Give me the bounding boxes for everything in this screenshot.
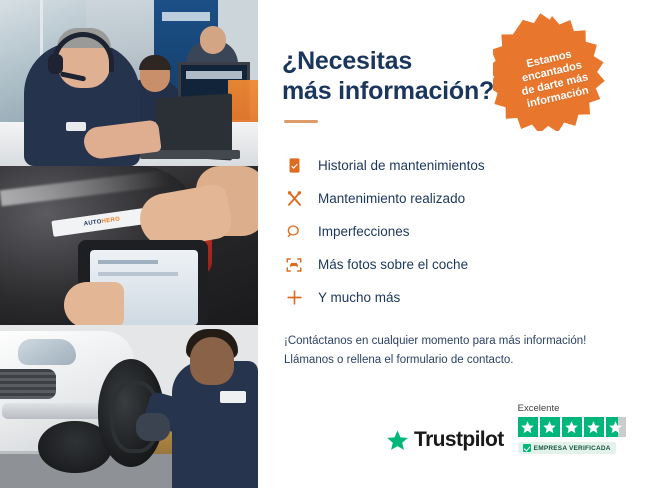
list-item: Mantenimiento realizado xyxy=(284,182,650,215)
check-icon xyxy=(523,444,531,452)
feature-label: Imperfecciones xyxy=(318,224,410,239)
contact-line-1: ¡Contáctanos en cualquier momento para m… xyxy=(284,332,650,351)
tools-cross-icon xyxy=(284,189,304,209)
trustpilot-star-icon xyxy=(386,429,409,452)
list-item: Más fotos sobre el coche xyxy=(284,248,650,281)
call-center-agents-photo xyxy=(0,0,258,166)
status-badge: Estamos encantados de darte más informac… xyxy=(493,13,611,131)
star-filled xyxy=(540,417,560,437)
clipboard-check-icon xyxy=(284,156,304,176)
star-filled xyxy=(562,417,582,437)
verified-badge: EMPRESA VERIFICADA xyxy=(518,442,616,454)
list-item: Imperfecciones xyxy=(284,215,650,248)
star-filled xyxy=(584,417,604,437)
technician-wheel-inspection-photo xyxy=(0,325,258,488)
star-rating xyxy=(518,417,626,437)
rating-label: Excelente xyxy=(518,403,560,414)
feature-label: Mantenimiento realizado xyxy=(318,191,465,206)
vehicle-inspection-ruler-photo: AUTOHERO xyxy=(0,166,258,325)
magnifier-icon xyxy=(284,222,304,242)
contact-line-2: Llámanos o rellena el formulario de cont… xyxy=(284,351,650,370)
feature-label: Y mucho más xyxy=(318,290,400,305)
verified-label: EMPRESA VERIFICADA xyxy=(534,445,611,452)
car-scan-icon xyxy=(284,255,304,275)
star-filled xyxy=(518,417,538,437)
plus-icon xyxy=(284,288,304,308)
headline-line-1: ¿Necesitas xyxy=(282,47,412,75)
badge-text: Estamos encantados de darte más informac… xyxy=(515,46,593,112)
list-item: Historial de mantenimientos xyxy=(284,149,650,182)
trustpilot-wordmark: Trustpilot xyxy=(414,428,504,452)
feature-list: Historial de mantenimientos Mantenimient… xyxy=(284,149,650,314)
feature-label: Historial de mantenimientos xyxy=(318,158,485,173)
photo-column: AUTOHERO xyxy=(0,0,258,488)
ruler-brand-secondary: HERO xyxy=(101,216,120,225)
feature-label: Más fotos sobre el coche xyxy=(318,257,468,272)
contact-text: ¡Contáctanos en cualquier momento para m… xyxy=(284,332,650,369)
ruler-brand-primary: AUTO xyxy=(83,219,102,227)
promo-card: AUTOHERO ¿Necesitas más información? xyxy=(0,0,650,488)
star-partial xyxy=(606,417,626,437)
list-item: Y mucho más xyxy=(284,281,650,314)
title-underline xyxy=(284,120,318,123)
trustpilot-logo: Trustpilot xyxy=(386,428,504,454)
trustpilot-rating[interactable]: Trustpilot Excelente EMPRESA VERIFICADA xyxy=(386,403,626,454)
content-panel: ¿Necesitas más información? Historial de… xyxy=(258,0,650,488)
